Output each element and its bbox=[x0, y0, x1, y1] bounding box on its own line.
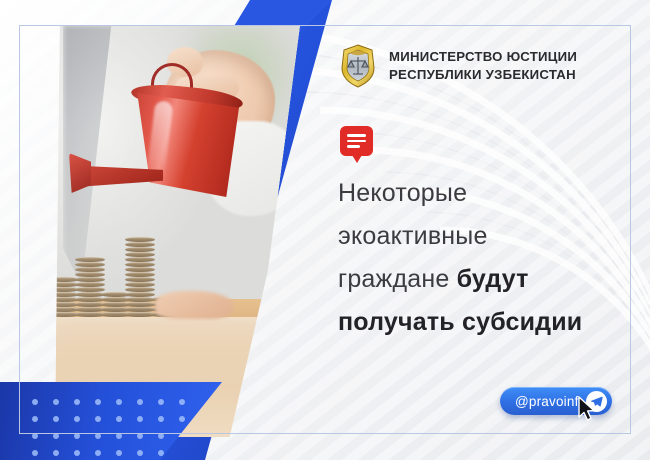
brand-line-1: МИНИСТЕРСТВО ЮСТИЦИИ bbox=[389, 48, 577, 66]
headline-line-2: экоактивные bbox=[338, 215, 638, 258]
headline-line-3-bold: будут bbox=[457, 265, 529, 293]
brand-line-2: РЕСПУБЛИКИ УЗБЕКИСТАН bbox=[389, 66, 577, 84]
ministry-emblem-icon bbox=[338, 44, 378, 88]
headline-line-4: получать субсидии bbox=[338, 301, 638, 344]
headline-line-3: граждане будут bbox=[338, 258, 638, 301]
brand-title: МИНИСТЕРСТВО ЮСТИЦИИ РЕСПУБЛИКИ УЗБЕКИСТ… bbox=[389, 48, 577, 83]
headline-line-1: Некоторые bbox=[338, 172, 638, 215]
headline: Некоторые экоактивные граждане будут пол… bbox=[338, 172, 638, 344]
content-area: МИНИСТЕРСТВО ЮСТИЦИИ РЕСПУБЛИКИ УЗБЕКИСТ… bbox=[332, 0, 650, 460]
telegram-handle-text: @pravoinf bbox=[515, 394, 579, 409]
brand-lockup: МИНИСТЕРСТВО ЮСТИЦИИ РЕСПУБЛИКИ УЗБЕКИСТ… bbox=[338, 44, 577, 88]
poster-canvas: МИНИСТЕРСТВО ЮСТИЦИИ РЕСПУБЛИКИ УЗБЕКИСТ… bbox=[0, 0, 650, 460]
headline-line-3-regular: граждане bbox=[338, 265, 457, 293]
speech-bubble-icon bbox=[340, 126, 373, 156]
mouse-cursor-icon bbox=[577, 396, 599, 422]
